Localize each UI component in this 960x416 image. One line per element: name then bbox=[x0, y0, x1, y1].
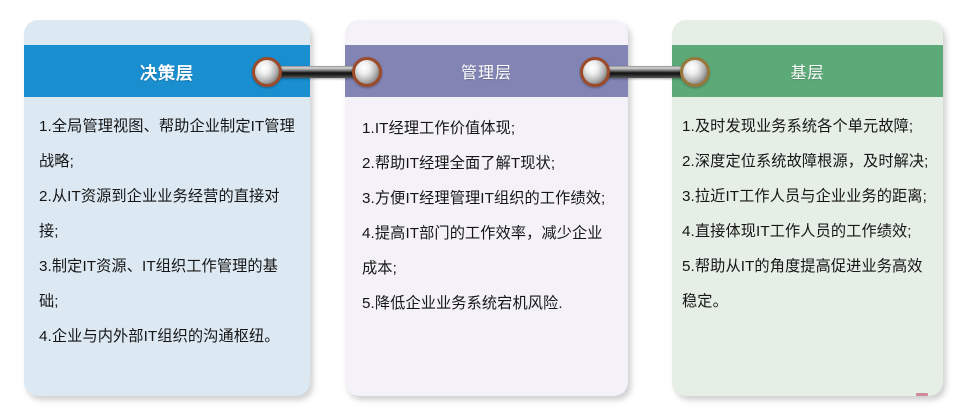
list-item: 5.降低企业业务系统宕机风险. bbox=[362, 286, 614, 321]
list-item: 2.从IT资源到企业业务经营的直接对接; bbox=[39, 179, 296, 249]
decoration-mark bbox=[916, 393, 928, 396]
list-item: 2.帮助IT经理全面了解T现状; bbox=[362, 146, 614, 181]
list-item: 2.深度定位系统故障根源，及时解决; bbox=[682, 144, 935, 179]
list-item: 5.帮助从IT的角度提高促进业务高效稳定。 bbox=[682, 249, 935, 319]
card-management-title: 管理层 bbox=[461, 59, 512, 83]
card-decision-header: 决策层 bbox=[24, 45, 310, 97]
list-item: 1.IT经理工作价值体现; bbox=[362, 111, 614, 146]
card-decision-title: 决策层 bbox=[140, 59, 194, 84]
list-item: 3.制定IT资源、IT组织工作管理的基础; bbox=[39, 249, 296, 319]
card-decision-layer[interactable]: 决策层 1.全局管理视图、帮助企业制定IT管理战略; 2.从IT资源到企业业务经… bbox=[24, 20, 310, 396]
card-management-body: 1.IT经理工作价值体现; 2.帮助IT经理全面了解T现状; 3.方便IT经理管… bbox=[345, 97, 628, 396]
list-item: 4.直接体现IT工作人员的工作绩效; bbox=[682, 214, 935, 249]
list-item: 3.拉近IT工作人员与企业业务的距离; bbox=[682, 179, 935, 214]
card-decision-body: 1.全局管理视图、帮助企业制定IT管理战略; 2.从IT资源到企业业务经营的直接… bbox=[24, 97, 310, 396]
card-base-header: 基层 bbox=[672, 45, 943, 97]
list-item: 4.企业与内外部IT组织的沟通枢纽。 bbox=[39, 319, 296, 354]
list-item: 1.全局管理视图、帮助企业制定IT管理战略; bbox=[39, 109, 296, 179]
card-base-body: 1.及时发现业务系统各个单元故障; 2.深度定位系统故障根源，及时解决; 3.拉… bbox=[672, 97, 943, 396]
list-item: 4.提高IT部门的工作效率，减少企业成本; bbox=[362, 216, 614, 286]
card-base-title: 基层 bbox=[790, 59, 824, 83]
card-management-header: 管理层 bbox=[345, 45, 628, 97]
list-item: 1.及时发现业务系统各个单元故障; bbox=[682, 109, 935, 144]
card-base-layer[interactable]: 基层 1.及时发现业务系统各个单元故障; 2.深度定位系统故障根源，及时解决; … bbox=[672, 20, 943, 396]
list-item: 3.方便IT经理管理IT组织的工作绩效; bbox=[362, 181, 614, 216]
three-layer-diagram: 决策层 1.全局管理视图、帮助企业制定IT管理战略; 2.从IT资源到企业业务经… bbox=[0, 0, 960, 416]
card-management-layer[interactable]: 管理层 1.IT经理工作价值体现; 2.帮助IT经理全面了解T现状; 3.方便I… bbox=[345, 20, 628, 396]
